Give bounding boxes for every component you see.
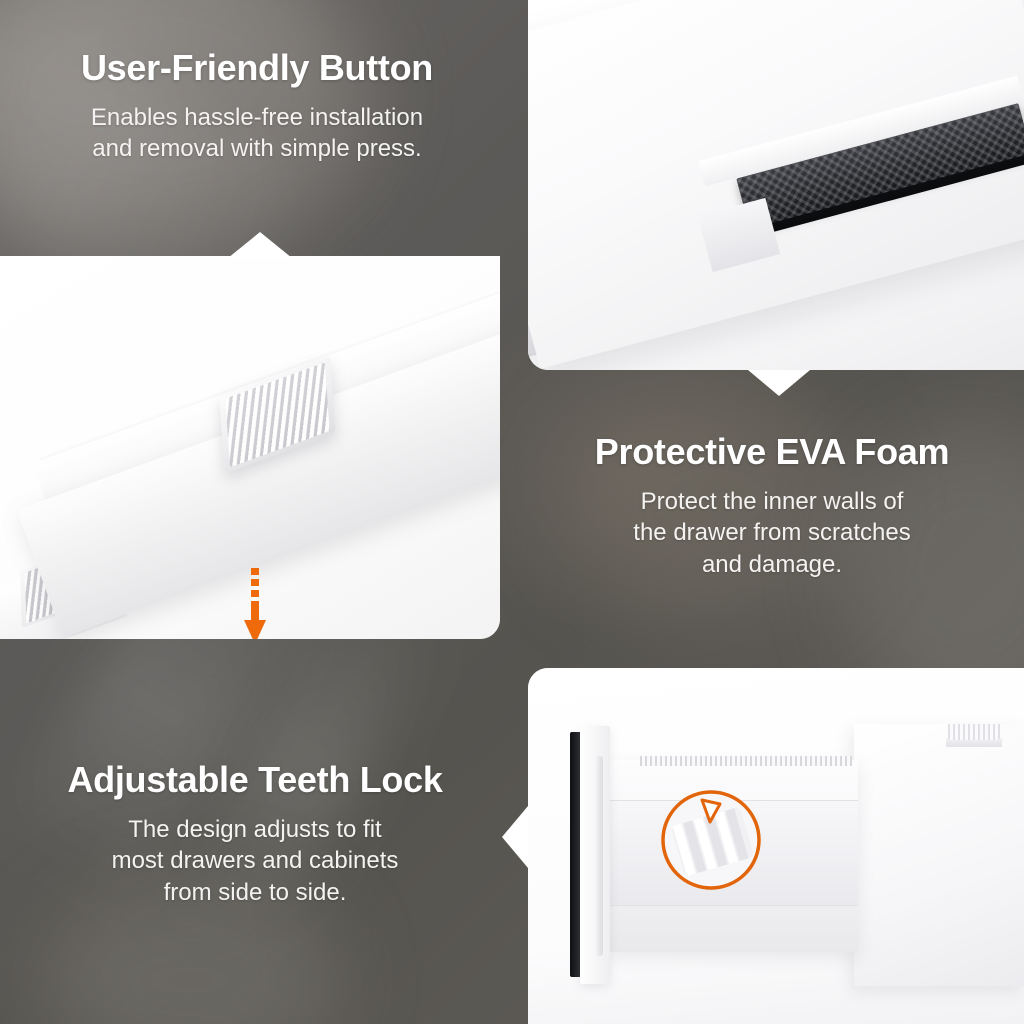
- callout-pointer-left: [502, 806, 528, 868]
- product-photo: [528, 668, 1024, 1024]
- divider-left-rib: [596, 756, 603, 956]
- feature-text-user-friendly-button: User-Friendly Button Enables hassle-free…: [22, 48, 492, 165]
- feature-text-protective-eva-foam: Protective EVA Foam Protect the inner wa…: [534, 432, 1010, 581]
- orange-down-arrow-icon: [242, 568, 268, 639]
- feature-photo-user-friendly-button: [0, 256, 500, 639]
- divider-right-ribbed-tab: [948, 724, 1000, 740]
- feature-title: Protective EVA Foam: [534, 432, 1010, 472]
- orange-magnifier-circle-icon: [658, 770, 764, 894]
- divider-left-end-cap: [580, 726, 610, 984]
- description-line: and removal with simple press.: [22, 133, 492, 165]
- callout-pointer-up: [228, 232, 292, 258]
- product-feature-infographic: User-Friendly Button Enables hassle-free…: [0, 0, 1024, 1024]
- description-line: from side to side.: [18, 877, 492, 909]
- feature-photo-adjustable-teeth-lock: [528, 668, 1024, 1024]
- description-line: The design adjusts to fit: [18, 814, 492, 846]
- feature-description: The design adjusts to fit most drawers a…: [18, 814, 492, 909]
- description-line: and damage.: [534, 549, 1010, 581]
- feature-text-adjustable-teeth-lock: Adjustable Teeth Lock The design adjusts…: [18, 760, 492, 909]
- description-line: most drawers and cabinets: [18, 845, 492, 877]
- feature-description: Enables hassle-free installation and rem…: [22, 102, 492, 165]
- callout-pointer-down: [748, 370, 810, 396]
- teeth-rack: [640, 756, 852, 766]
- feature-photo-protective-eva-foam: [528, 0, 1024, 370]
- description-line: Protect the inner walls of: [534, 486, 1010, 518]
- product-photo: [528, 0, 1024, 370]
- feature-title: Adjustable Teeth Lock: [18, 760, 492, 800]
- product-photo: [0, 256, 500, 639]
- description-line: Enables hassle-free installation: [22, 102, 492, 134]
- divider-right-panel: [854, 724, 1024, 986]
- feature-title: User-Friendly Button: [22, 48, 492, 88]
- feature-description: Protect the inner walls of the drawer fr…: [534, 486, 1010, 581]
- description-line: the drawer from scratches: [534, 517, 1010, 549]
